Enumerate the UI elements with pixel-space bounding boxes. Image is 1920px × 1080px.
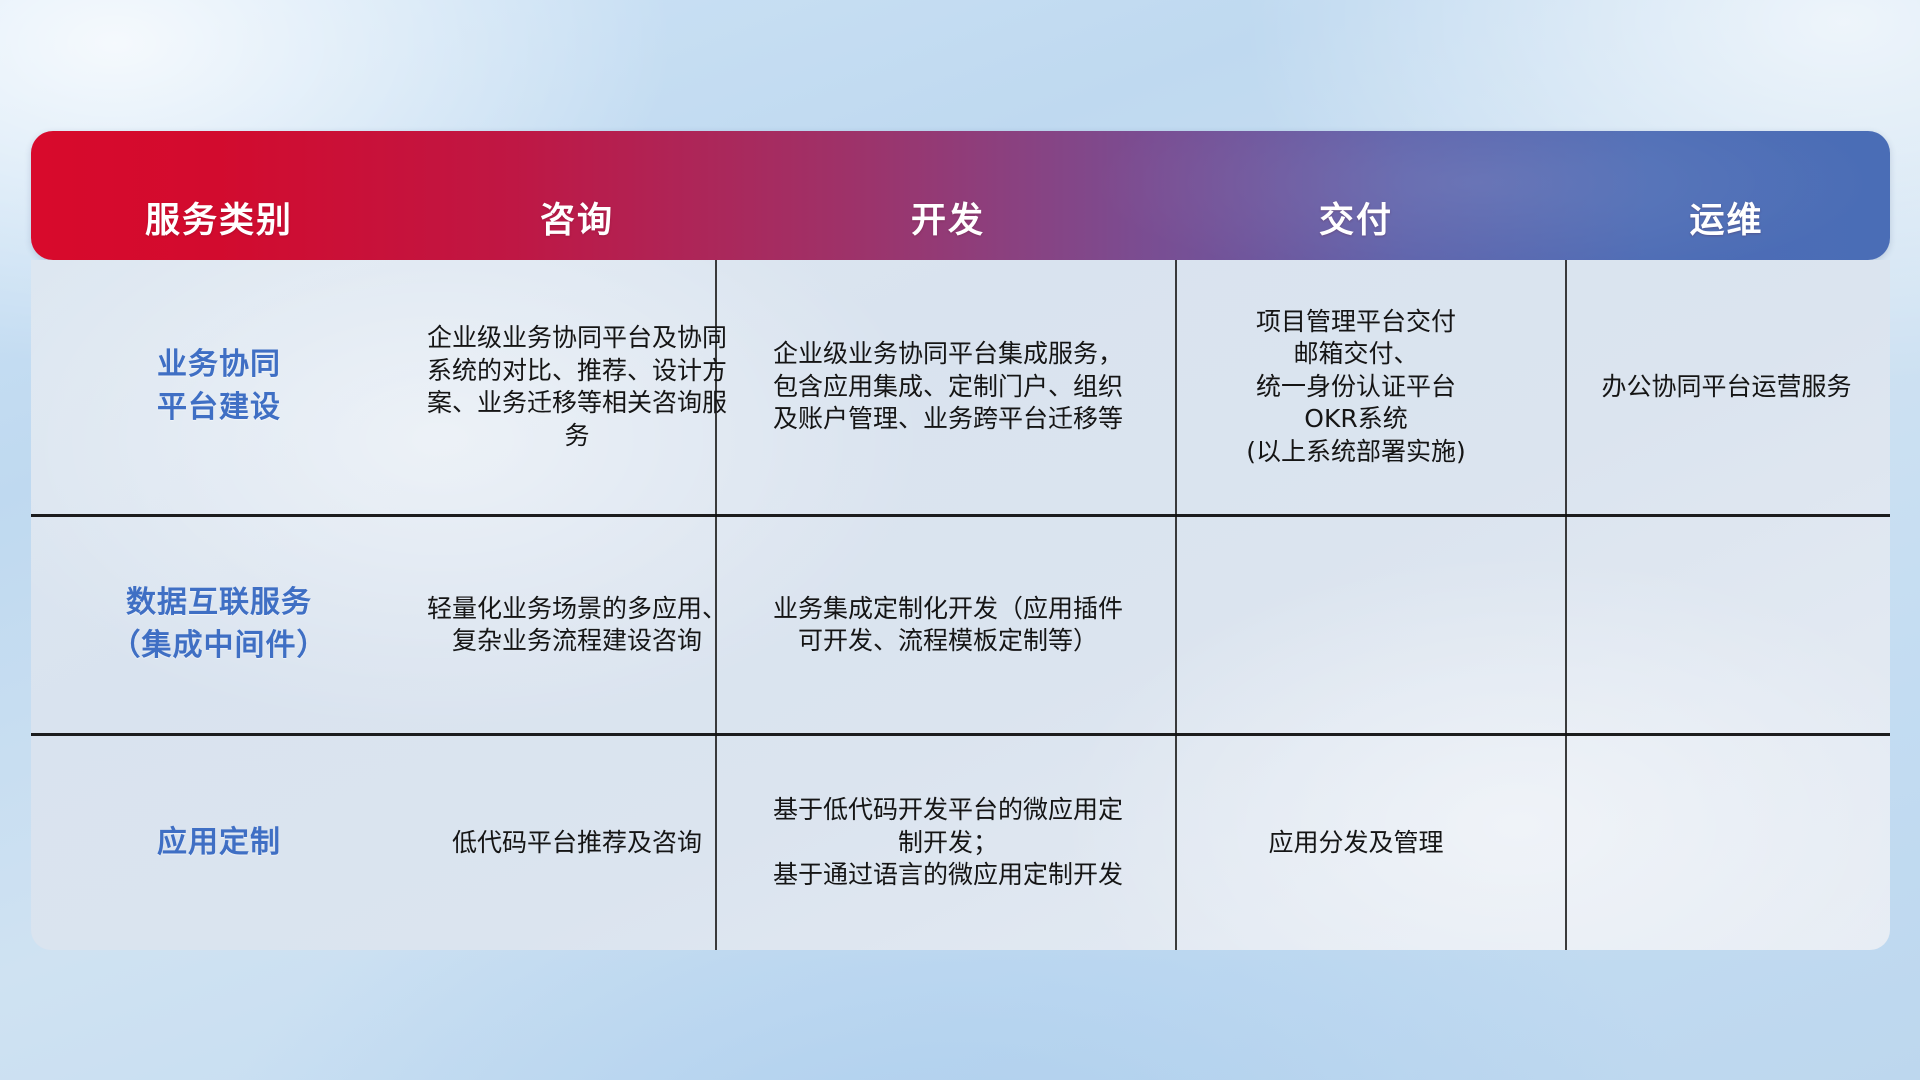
category-line: （集成中间件） [111,625,328,668]
cell-development: 基于低代码开发平台的微应用定 制开发； 基于通过语言的微应用定制开发 [747,736,1149,950]
category-line: 应用定制 [157,822,281,865]
table-row: 应用定制 低代码平台推荐及咨询 基于低代码开发平台的微应用定 制开发； 基于通过… [31,736,1890,950]
column-header-operations: 运维 [1563,192,1890,260]
category-line: 平台建设 [157,387,281,430]
cell-delivery: 应用分发及管理 [1149,736,1563,950]
cell-consulting: 企业级业务协同平台及协同系统的对比、推荐、设计方案、业务迁移等相关咨询服务 [407,260,747,514]
column-header-delivery: 交付 [1149,192,1563,260]
cell-consulting: 低代码平台推荐及咨询 [407,736,747,950]
cell-delivery: 项目管理平台交付 邮箱交付、 统一身份认证平台 OKR系统 (以上系统部署实施) [1149,260,1563,514]
category-line: 数据互联服务 [111,582,328,625]
cell-operations [1563,736,1890,950]
delivery-line: 邮箱交付、 [1246,338,1466,371]
table-header-row: 服务类别 咨询 开发 交付 运维 [31,131,1890,260]
development-line: 基于通过语言的微应用定制开发 [773,859,1123,892]
column-header-consulting: 咨询 [407,192,747,260]
table-body: 业务协同 平台建设 企业级业务协同平台及协同系统的对比、推荐、设计方案、业务迁移… [31,260,1890,950]
column-header-service-category: 服务类别 [31,192,407,260]
row-category-label: 应用定制 [31,736,407,950]
cell-consulting: 轻量化业务场景的多应用、复杂业务流程建设咨询 [407,517,747,733]
cell-development: 企业级业务协同平台集成服务，包含应用集成、定制门户、组织及账户管理、业务跨平台迁… [747,260,1149,514]
table-row: 业务协同 平台建设 企业级业务协同平台及协同系统的对比、推荐、设计方案、业务迁移… [31,260,1890,514]
category-line: 业务协同 [157,344,281,387]
delivery-line: (以上系统部署实施) [1246,436,1466,469]
development-line: 基于低代码开发平台的微应用定 [773,794,1123,827]
table-row: 数据互联服务 （集成中间件） 轻量化业务场景的多应用、复杂业务流程建设咨询 业务… [31,517,1890,733]
cell-operations [1563,517,1890,733]
cell-operations: 办公协同平台运营服务 [1563,260,1890,514]
delivery-line: OKR系统 [1246,403,1466,436]
row-category-label: 数据互联服务 （集成中间件） [31,517,407,733]
column-header-development: 开发 [747,192,1149,260]
row-category-label: 业务协同 平台建设 [31,260,407,514]
delivery-line: 项目管理平台交付 [1246,306,1466,339]
cell-delivery [1149,517,1563,733]
development-line: 制开发； [773,827,1123,860]
slide-canvas: 服务类别 咨询 开发 交付 运维 业务协同 平台建设 企业级业务协同平台及协同系… [0,0,1920,1080]
delivery-line: 统一身份认证平台 [1246,371,1466,404]
cell-development: 业务集成定制化开发（应用插件可开发、流程模板定制等） [747,517,1149,733]
